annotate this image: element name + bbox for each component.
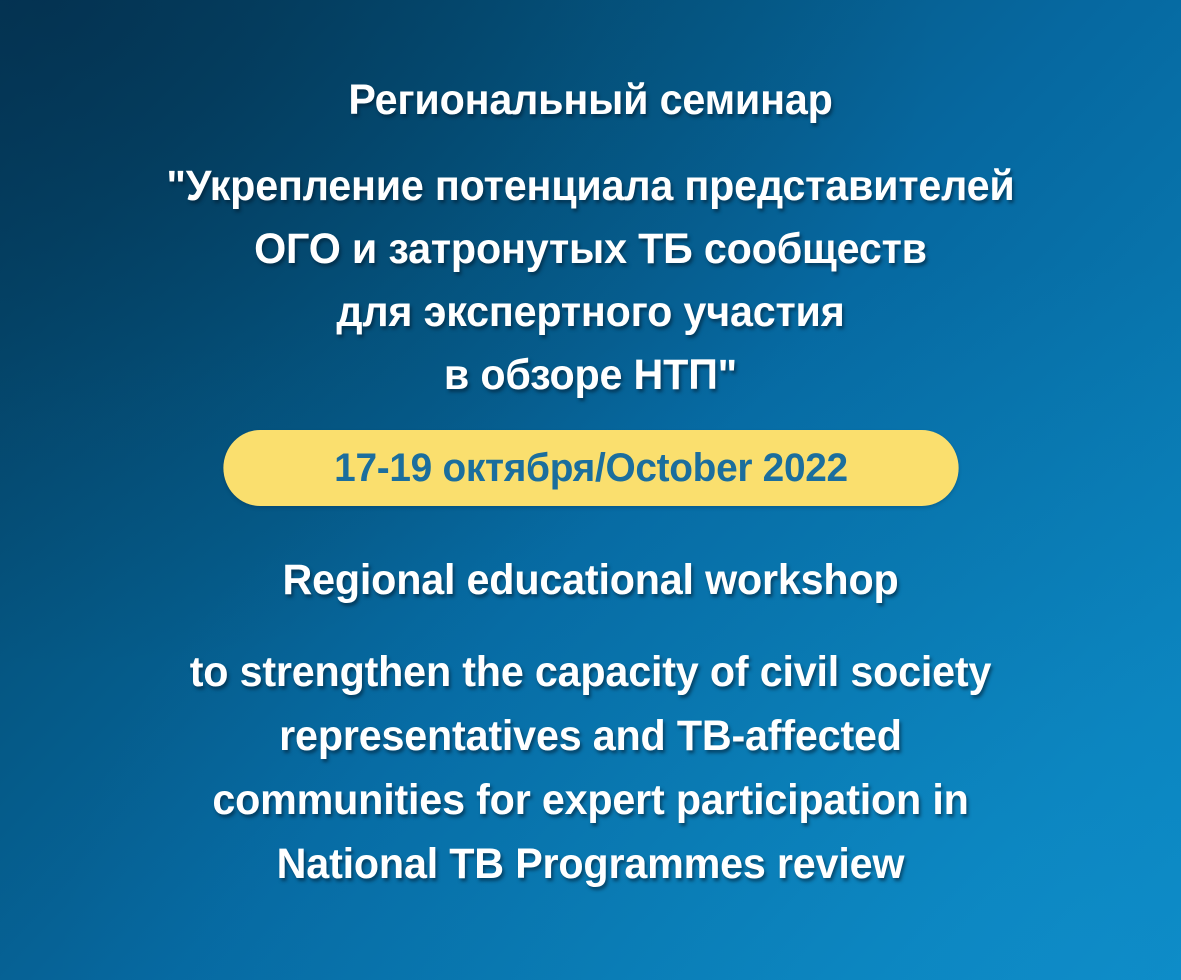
russian-heading: Региональный семинар — [24, 73, 1158, 127]
english-body-line-3: communities for expert participation in — [24, 768, 1158, 832]
english-heading: Regional educational workshop — [24, 552, 1158, 608]
english-body: to strengthen the capacity of civil soci… — [24, 640, 1158, 896]
russian-title-line-3: для экспертного участия — [24, 281, 1158, 344]
russian-title-line-1: "Укрепление потенциала представителей — [24, 155, 1158, 218]
russian-title: "Укрепление потенциала представителей ОГ… — [24, 155, 1158, 407]
english-body-line-2: representatives and TB-affected — [24, 704, 1158, 768]
russian-title-line-2: ОГО и затронутых ТБ сообществ — [24, 218, 1158, 281]
date-badge: 17-19 октября/October 2022 — [223, 430, 958, 506]
english-body-line-4: National TB Programmes review — [24, 832, 1158, 896]
english-body-line-1: to strengthen the capacity of civil soci… — [24, 640, 1158, 704]
date-badge-container: 17-19 октября/October 2022 — [0, 430, 1181, 506]
poster-canvas: Региональный семинар "Укрепление потенци… — [0, 0, 1181, 980]
russian-title-line-4: в обзоре НТП" — [24, 344, 1158, 407]
poster-content: Региональный семинар "Укрепление потенци… — [0, 0, 1181, 980]
